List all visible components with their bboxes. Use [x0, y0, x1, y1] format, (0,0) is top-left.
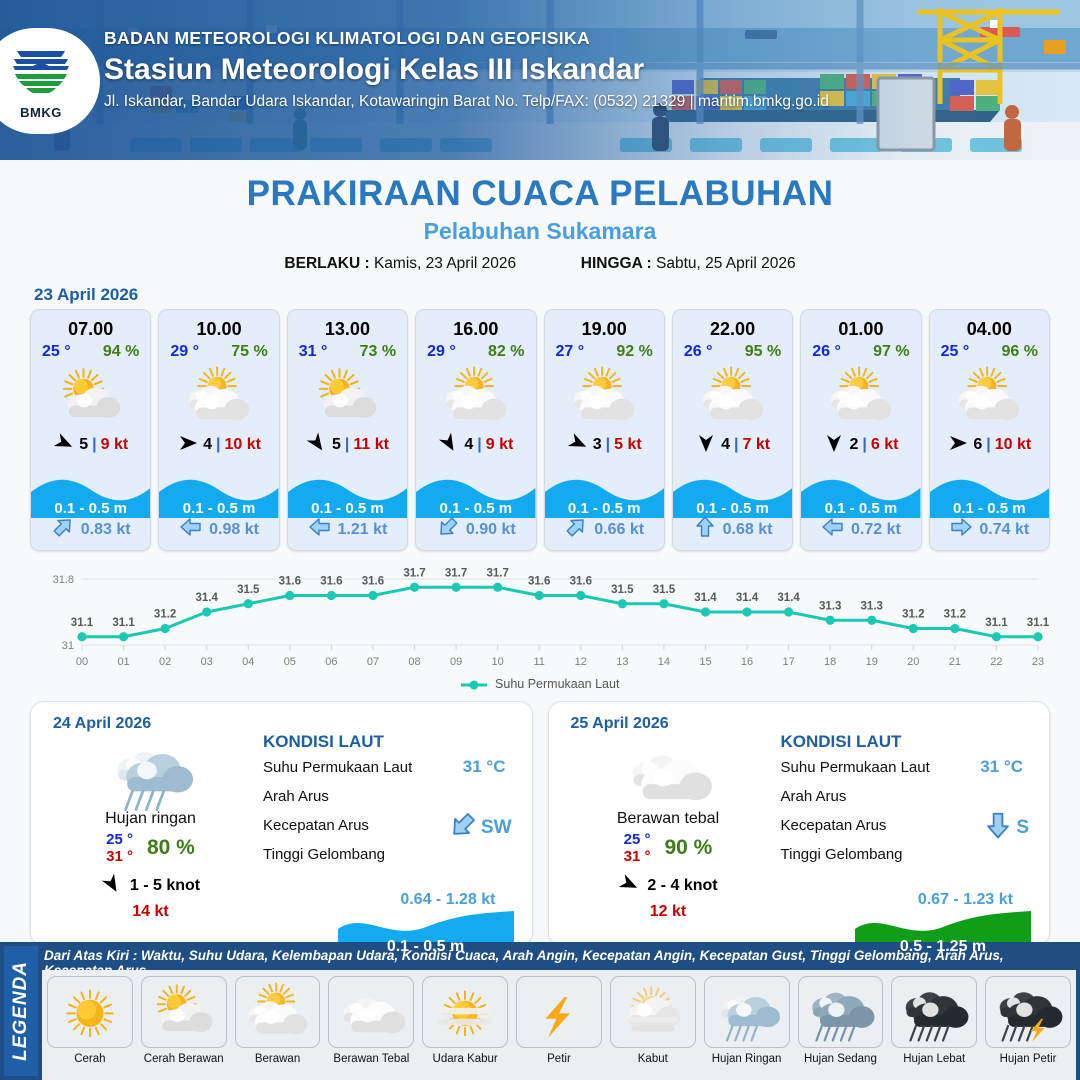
- legend-item: Petir: [513, 976, 605, 1080]
- current-direction-arrow-icon: [179, 515, 203, 544]
- current-direction-label: Arah Arus: [263, 788, 329, 805]
- card-temperature: 29 °: [170, 343, 199, 361]
- card-humidity: 95 %: [745, 343, 781, 361]
- legend-item: Kabut: [607, 976, 699, 1080]
- daily-date: 25 April 2026: [571, 715, 669, 733]
- weather-icon-berawan: [545, 363, 664, 429]
- daily-condition: Hujan ringan: [43, 810, 258, 828]
- card-humidity: 96 %: [1002, 343, 1038, 361]
- daily-wind-range: 2 - 4 knot: [647, 877, 717, 895]
- daily-forecast-panel[interactable]: 24 April 2026 Hujan ringan 25 ° 31 ° 80: [30, 701, 533, 946]
- current-direction-label: Arah Arus: [781, 788, 847, 805]
- separator: |: [216, 436, 220, 454]
- weather-icon-cerah-berawan: [288, 363, 407, 429]
- legend-item: Cerah: [44, 976, 136, 1080]
- svg-text:02: 02: [159, 656, 171, 668]
- hourly-card[interactable]: 22.00 26 ° 95 %: [672, 309, 793, 551]
- card-time: 10.00: [159, 310, 278, 340]
- svg-text:01: 01: [117, 656, 129, 668]
- current-speed-label: Kecepatan Arus: [263, 817, 369, 834]
- wind-direction-arrow-icon: [947, 432, 969, 459]
- svg-text:07: 07: [367, 656, 379, 668]
- legend-item: Berawan: [232, 976, 324, 1080]
- card-wind-row: 2 | 6 kt: [801, 431, 920, 459]
- card-humidity: 92 %: [616, 343, 652, 361]
- card-temperature: 26 °: [684, 343, 713, 361]
- svg-text:31.6: 31.6: [279, 576, 301, 588]
- card-current-row: 0.68 kt: [673, 515, 792, 544]
- sst-chart: 31.8310001020304050607080910111213141516…: [30, 563, 1050, 673]
- card-wind-speed: 10 kt: [225, 436, 261, 454]
- card-wind-direction: 2: [849, 436, 858, 454]
- svg-text:00: 00: [76, 656, 88, 668]
- hourly-card[interactable]: 19.00 27 ° 92 %: [544, 309, 665, 551]
- svg-text:31.4: 31.4: [777, 592, 800, 604]
- daily-left-column: Berawan tebal 25 ° 31 ° 90 % 2 - 4 knot …: [561, 740, 776, 921]
- card-time: 07.00: [31, 310, 150, 340]
- current-direction-arrow-icon: [949, 515, 973, 544]
- svg-text:21: 21: [949, 656, 961, 668]
- card-time: 22.00: [673, 310, 792, 340]
- header-text-block: BADAN METEOROLOGI KLIMATOLOGI DAN GEOFIS…: [104, 28, 984, 111]
- wind-direction-arrow-icon: [618, 873, 640, 900]
- svg-text:04: 04: [242, 656, 254, 668]
- card-wind-direction: 5: [332, 436, 341, 454]
- card-current-row: 0.66 kt: [545, 515, 664, 544]
- wind-direction-arrow-icon: [695, 432, 717, 459]
- legend-item-label: Berawan: [232, 1053, 324, 1065]
- card-temperature: 25 °: [941, 343, 970, 361]
- daily-sea-conditions: KONDISI LAUT Suhu Permukaan Laut 31 °C A…: [781, 732, 1036, 875]
- card-humidity: 97 %: [873, 343, 909, 361]
- svg-text:05: 05: [284, 656, 296, 668]
- svg-text:31.2: 31.2: [154, 609, 176, 621]
- daily-left-column: Hujan ringan 25 ° 31 ° 80 % 1 - 5 knot 1…: [43, 740, 258, 921]
- legend-item: Berawan Tebal: [325, 976, 417, 1080]
- daily-temp-row: 25 ° 31 ° 80 %: [43, 831, 258, 866]
- svg-text:31.2: 31.2: [944, 609, 966, 621]
- card-current-row: 0.98 kt: [159, 515, 278, 544]
- card-wind-speed: 9 kt: [486, 436, 514, 454]
- card-temperature: 26 °: [812, 343, 841, 361]
- legend-icon-cerah: [47, 976, 133, 1048]
- legend-icon-cerah-berawan: [141, 976, 227, 1048]
- card-wind-row: 4 | 10 kt: [159, 431, 278, 459]
- separator: |: [345, 436, 349, 454]
- card-wind-speed: 10 kt: [995, 436, 1031, 454]
- card-time: 13.00: [288, 310, 407, 340]
- valid-until-value: Sabtu, 25 April 2026: [656, 255, 796, 272]
- current-direction-arrow-icon: [693, 515, 717, 544]
- card-wind-direction: 6: [973, 436, 982, 454]
- daily-gust: 14 kt: [43, 903, 258, 921]
- sst-value: 31 °C: [980, 757, 1023, 777]
- card-current-row: 0.74 kt: [930, 515, 1049, 544]
- legend-icon-hujan-ringan: [704, 976, 790, 1048]
- sst-label: Suhu Permukaan Laut: [781, 759, 930, 776]
- validity-row: BERLAKU : Kamis, 23 April 2026 HINGGA : …: [0, 255, 1080, 273]
- wind-direction-arrow-icon: [438, 432, 460, 459]
- wind-direction-arrow-icon: [101, 873, 123, 900]
- card-temperature: 27 °: [556, 343, 585, 361]
- wave-height-value: 0.5 - 1.25 m: [855, 938, 1031, 956]
- weather-icon-berawan: [930, 363, 1049, 429]
- valid-from-label: BERLAKU :: [284, 255, 369, 272]
- svg-text:12: 12: [575, 656, 587, 668]
- wind-direction-arrow-icon: [567, 432, 589, 459]
- wind-direction-arrow-icon: [306, 432, 328, 459]
- svg-text:31.6: 31.6: [528, 576, 550, 588]
- card-temperature: 31 °: [299, 343, 328, 361]
- current-direction-arrow-icon: [821, 515, 845, 544]
- card-wind-row: 5 | 11 kt: [288, 431, 407, 459]
- valid-from-value: Kamis, 23 April 2026: [374, 255, 516, 272]
- svg-text:31.1: 31.1: [985, 617, 1008, 629]
- separator: |: [92, 436, 96, 454]
- legend-item-label: Cerah Berawan: [138, 1053, 230, 1065]
- legend-item-label: Hujan Sedang: [795, 1053, 887, 1065]
- sst-label: Suhu Permukaan Laut: [263, 759, 412, 776]
- legend-side-text: LEGENDA: [10, 961, 32, 1061]
- sst-chart-svg: 31.8310001020304050607080910111213141516…: [30, 563, 1050, 673]
- legend-icon-kabut: [610, 976, 696, 1048]
- legend-item-label: Cerah: [44, 1053, 136, 1065]
- card-current-speed: 0.98 kt: [209, 521, 259, 539]
- svg-text:31.7: 31.7: [403, 567, 425, 579]
- svg-text:31: 31: [62, 640, 74, 652]
- daily-wind-row: 1 - 5 knot: [43, 873, 258, 900]
- svg-text:16: 16: [741, 656, 753, 668]
- hourly-card[interactable]: 07.00 25 ° 94 % 5 | 9 kt: [30, 309, 151, 551]
- chart-legend: Suhu Permukaan Laut: [0, 677, 1080, 691]
- legend-side-label: LEGENDA: [4, 946, 38, 1076]
- hourly-card[interactable]: 16.00 29 ° 82 %: [415, 309, 536, 551]
- card-time: 04.00: [930, 310, 1049, 340]
- wave-height-value: 0.1 - 0.5 m: [338, 938, 514, 956]
- svg-text:31.5: 31.5: [611, 584, 634, 596]
- svg-text:08: 08: [408, 656, 420, 668]
- card-wave-zone: 0.1 - 0.5 m 0.74 kt: [930, 474, 1049, 550]
- svg-text:23: 23: [1032, 656, 1044, 668]
- card-wave-zone: 0.1 - 0.5 m 0.66 kt: [545, 474, 664, 550]
- card-humidity: 82 %: [488, 343, 524, 361]
- svg-text:31.3: 31.3: [861, 600, 883, 612]
- card-current-speed: 0.68 kt: [723, 521, 773, 539]
- daily-temp-max: 31 °: [624, 848, 651, 865]
- svg-text:31.4: 31.4: [196, 592, 219, 604]
- weather-icon-hujan-ringan: [43, 740, 258, 806]
- card-wind-direction: 3: [593, 436, 602, 454]
- legend-item-label: Petir: [513, 1053, 605, 1065]
- station-name: Stasiun Meteorologi Kelas III Iskandar: [104, 53, 984, 87]
- svg-text:20: 20: [907, 656, 919, 668]
- svg-text:17: 17: [782, 656, 794, 668]
- card-current-row: 0.72 kt: [801, 515, 920, 544]
- svg-text:31.3: 31.3: [819, 600, 841, 612]
- svg-text:31.6: 31.6: [362, 576, 384, 588]
- card-wave-zone: 0.1 - 0.5 m 0.72 kt: [801, 474, 920, 550]
- daily-condition: Berawan tebal: [561, 810, 776, 828]
- station-address: Jl. Iskandar, Bandar Udara Iskandar, Kot…: [104, 93, 984, 111]
- legend-item-label: Hujan Lebat: [888, 1053, 980, 1065]
- page-title: PRAKIRAAN CUACA PELABUHAN: [0, 174, 1080, 214]
- svg-text:31.1: 31.1: [1027, 617, 1050, 629]
- legend-icon-petir: [516, 976, 602, 1048]
- card-wind-speed: 6 kt: [871, 436, 899, 454]
- chart-legend-label: Suhu Permukaan Laut: [495, 677, 619, 691]
- daily-wind-row: 2 - 4 knot: [561, 873, 776, 900]
- legend-item-label: Hujan Petir: [982, 1053, 1074, 1065]
- svg-text:06: 06: [325, 656, 337, 668]
- card-temperature: 29 °: [427, 343, 456, 361]
- daily-temp-min: 25 °: [106, 831, 133, 848]
- card-humidity: 94 %: [103, 343, 139, 361]
- port-name: Pelabuhan Sukamara: [0, 218, 1080, 245]
- legend-item: Hujan Sedang: [795, 976, 887, 1080]
- svg-text:31.5: 31.5: [237, 584, 260, 596]
- svg-text:11: 11: [534, 656, 545, 668]
- separator: |: [477, 436, 481, 454]
- legend-item-label: Kabut: [607, 1053, 699, 1065]
- svg-text:22: 22: [990, 656, 1002, 668]
- svg-text:31.6: 31.6: [570, 576, 592, 588]
- card-wind-row: 5 | 9 kt: [31, 431, 150, 459]
- daily-gust: 12 kt: [561, 903, 776, 921]
- agency-name: BADAN METEOROLOGI KLIMATOLOGI DAN GEOFIS…: [104, 28, 984, 49]
- daily-humidity: 80 %: [147, 836, 195, 860]
- hourly-card[interactable]: 13.00 31 ° 73 % 5 | 11 kt: [287, 309, 408, 551]
- weather-icon-cerah-berawan: [31, 363, 150, 429]
- weather-icon-berawan-tebal: [561, 740, 776, 806]
- card-current-speed: 0.83 kt: [81, 521, 131, 539]
- chart-legend-marker: [461, 680, 487, 690]
- legend-icon-berawan: [235, 976, 321, 1048]
- legend-icon-hujan-petir: [985, 976, 1071, 1048]
- card-current-row: 0.90 kt: [416, 515, 535, 544]
- sst-value: 31 °C: [463, 757, 506, 777]
- card-current-row: 1.21 kt: [288, 515, 407, 544]
- card-wind-row: 4 | 9 kt: [416, 431, 535, 459]
- legend-item: Hujan Petir: [982, 976, 1074, 1080]
- sea-conditions-title: KONDISI LAUT: [781, 732, 1036, 752]
- legend-icon-hujan-lebat: [891, 976, 977, 1048]
- current-direction-arrow-icon: [308, 515, 332, 544]
- separator: |: [986, 436, 990, 454]
- bmkg-logo-icon: [9, 43, 73, 99]
- card-wave-zone: 0.1 - 0.5 m 0.90 kt: [416, 474, 535, 550]
- card-current-speed: 0.66 kt: [594, 521, 644, 539]
- hourly-date-label: 23 April 2026: [34, 285, 1080, 305]
- svg-text:31.7: 31.7: [486, 567, 508, 579]
- legend-icon-hujan-sedang: [798, 976, 884, 1048]
- current-direction-arrow-icon: [564, 515, 588, 544]
- sea-conditions-title: KONDISI LAUT: [263, 732, 518, 752]
- card-current-speed: 1.21 kt: [338, 521, 388, 539]
- current-speed-label: Kecepatan Arus: [781, 817, 887, 834]
- svg-text:31.1: 31.1: [71, 617, 94, 629]
- wave-height-label: Tinggi Gelombang: [263, 846, 385, 863]
- weather-icon-berawan: [159, 363, 278, 429]
- legend-item-label: Hujan Ringan: [701, 1053, 793, 1065]
- hourly-card[interactable]: 10.00 29 ° 75 %: [158, 309, 279, 551]
- daily-temp-row: 25 ° 31 ° 90 %: [561, 831, 776, 866]
- wind-direction-arrow-icon: [53, 432, 75, 459]
- card-wind-direction: 4: [721, 436, 730, 454]
- card-current-row: 0.83 kt: [31, 515, 150, 544]
- card-wave-zone: 0.1 - 0.5 m 0.98 kt: [159, 474, 278, 550]
- legend-items: Cerah Cerah Berawan: [42, 970, 1076, 1080]
- card-wind-speed: 5 kt: [614, 436, 642, 454]
- hourly-card[interactable]: 04.00 25 ° 96 %: [929, 309, 1050, 551]
- weather-icon-berawan: [416, 363, 535, 429]
- daily-date: 24 April 2026: [53, 715, 151, 733]
- card-current-speed: 0.90 kt: [466, 521, 516, 539]
- card-time: 16.00: [416, 310, 535, 340]
- wave-height-badge: 0.5 - 1.25 m: [855, 907, 1031, 963]
- card-wind-speed: 11 kt: [353, 436, 389, 454]
- card-time: 19.00: [545, 310, 664, 340]
- legend-icon-udara-kabur: [422, 976, 508, 1048]
- daily-sea-conditions: KONDISI LAUT Suhu Permukaan Laut 31 °C A…: [263, 732, 518, 875]
- wave-height-label: Tinggi Gelombang: [781, 846, 903, 863]
- bmkg-logo-text: BMKG: [6, 105, 76, 120]
- card-wind-direction: 4: [464, 436, 473, 454]
- legend-item-label: Udara Kabur: [419, 1053, 511, 1065]
- title-block: PRAKIRAAN CUACA PELABUHAN Pelabuhan Suka…: [0, 160, 1080, 273]
- card-time: 01.00: [801, 310, 920, 340]
- page-header: BMKG BADAN METEOROLOGI KLIMATOLOGI DAN G…: [0, 0, 1080, 160]
- svg-text:09: 09: [450, 656, 462, 668]
- daily-forecast-panel[interactable]: 25 April 2026 Berawan tebal 25 ° 31 ° 9: [548, 701, 1051, 946]
- svg-text:31.7: 31.7: [445, 567, 467, 579]
- separator: |: [606, 436, 610, 454]
- svg-text:10: 10: [492, 656, 504, 668]
- separator: |: [862, 436, 866, 454]
- card-current-speed: 0.74 kt: [979, 521, 1029, 539]
- daily-temp-max: 31 °: [106, 848, 133, 865]
- card-wind-direction: 5: [79, 436, 88, 454]
- svg-text:15: 15: [699, 656, 711, 668]
- legend-item: Udara Kabur: [419, 976, 511, 1080]
- hourly-card[interactable]: 01.00 26 ° 97 %: [800, 309, 921, 551]
- svg-text:31.2: 31.2: [902, 609, 924, 621]
- daily-temp-min: 25 °: [624, 831, 651, 848]
- daily-wind-range: 1 - 5 knot: [130, 877, 200, 895]
- legend-item: Hujan Lebat: [888, 976, 980, 1080]
- svg-text:13: 13: [616, 656, 628, 668]
- wave-height-badge: 0.1 - 0.5 m: [338, 907, 514, 963]
- svg-text:19: 19: [866, 656, 878, 668]
- svg-text:31.8: 31.8: [53, 574, 74, 586]
- current-direction-arrow-icon: [436, 515, 460, 544]
- card-wave-zone: 0.1 - 0.5 m 1.21 kt: [288, 474, 407, 550]
- card-wind-row: 6 | 10 kt: [930, 431, 1049, 459]
- legend-item: Cerah Berawan: [138, 976, 230, 1080]
- card-wind-direction: 4: [203, 436, 212, 454]
- svg-text:31.1: 31.1: [112, 617, 135, 629]
- svg-text:31.6: 31.6: [320, 576, 342, 588]
- legend-bar: LEGENDA Dari Atas Kiri : Waktu, Suhu Uda…: [0, 942, 1080, 1080]
- card-wind-speed: 7 kt: [742, 436, 770, 454]
- weather-icon-berawan: [801, 363, 920, 429]
- current-direction-arrow-icon: [51, 515, 75, 544]
- svg-text:31.5: 31.5: [653, 584, 676, 596]
- card-wind-row: 4 | 7 kt: [673, 431, 792, 459]
- legend-item: Hujan Ringan: [701, 976, 793, 1080]
- daily-forecast-panels: 24 April 2026 Hujan ringan 25 ° 31 ° 80: [0, 701, 1080, 946]
- card-humidity: 75 %: [231, 343, 267, 361]
- valid-until-label: HINGGA :: [581, 255, 652, 272]
- legend-icon-berawan-tebal: [328, 976, 414, 1048]
- svg-text:31.4: 31.4: [694, 592, 717, 604]
- svg-text:31.4: 31.4: [736, 592, 759, 604]
- legend-item-label: Berawan Tebal: [325, 1053, 417, 1065]
- daily-humidity: 90 %: [664, 836, 712, 860]
- svg-text:18: 18: [824, 656, 836, 668]
- card-wave-zone: 0.1 - 0.5 m 0.83 kt: [31, 474, 150, 550]
- card-wave-zone: 0.1 - 0.5 m 0.68 kt: [673, 474, 792, 550]
- card-current-speed: 0.72 kt: [851, 521, 901, 539]
- svg-text:03: 03: [201, 656, 213, 668]
- card-humidity: 73 %: [360, 343, 396, 361]
- wind-direction-arrow-icon: [177, 432, 199, 459]
- weather-icon-berawan: [673, 363, 792, 429]
- card-temperature: 25 °: [42, 343, 71, 361]
- separator: |: [734, 436, 738, 454]
- wind-direction-arrow-icon: [823, 432, 845, 459]
- svg-text:14: 14: [658, 656, 670, 668]
- card-wind-row: 3 | 5 kt: [545, 431, 664, 459]
- card-wind-speed: 9 kt: [101, 436, 129, 454]
- hourly-forecast-cards: 07.00 25 ° 94 % 5 | 9 kt: [0, 309, 1080, 551]
